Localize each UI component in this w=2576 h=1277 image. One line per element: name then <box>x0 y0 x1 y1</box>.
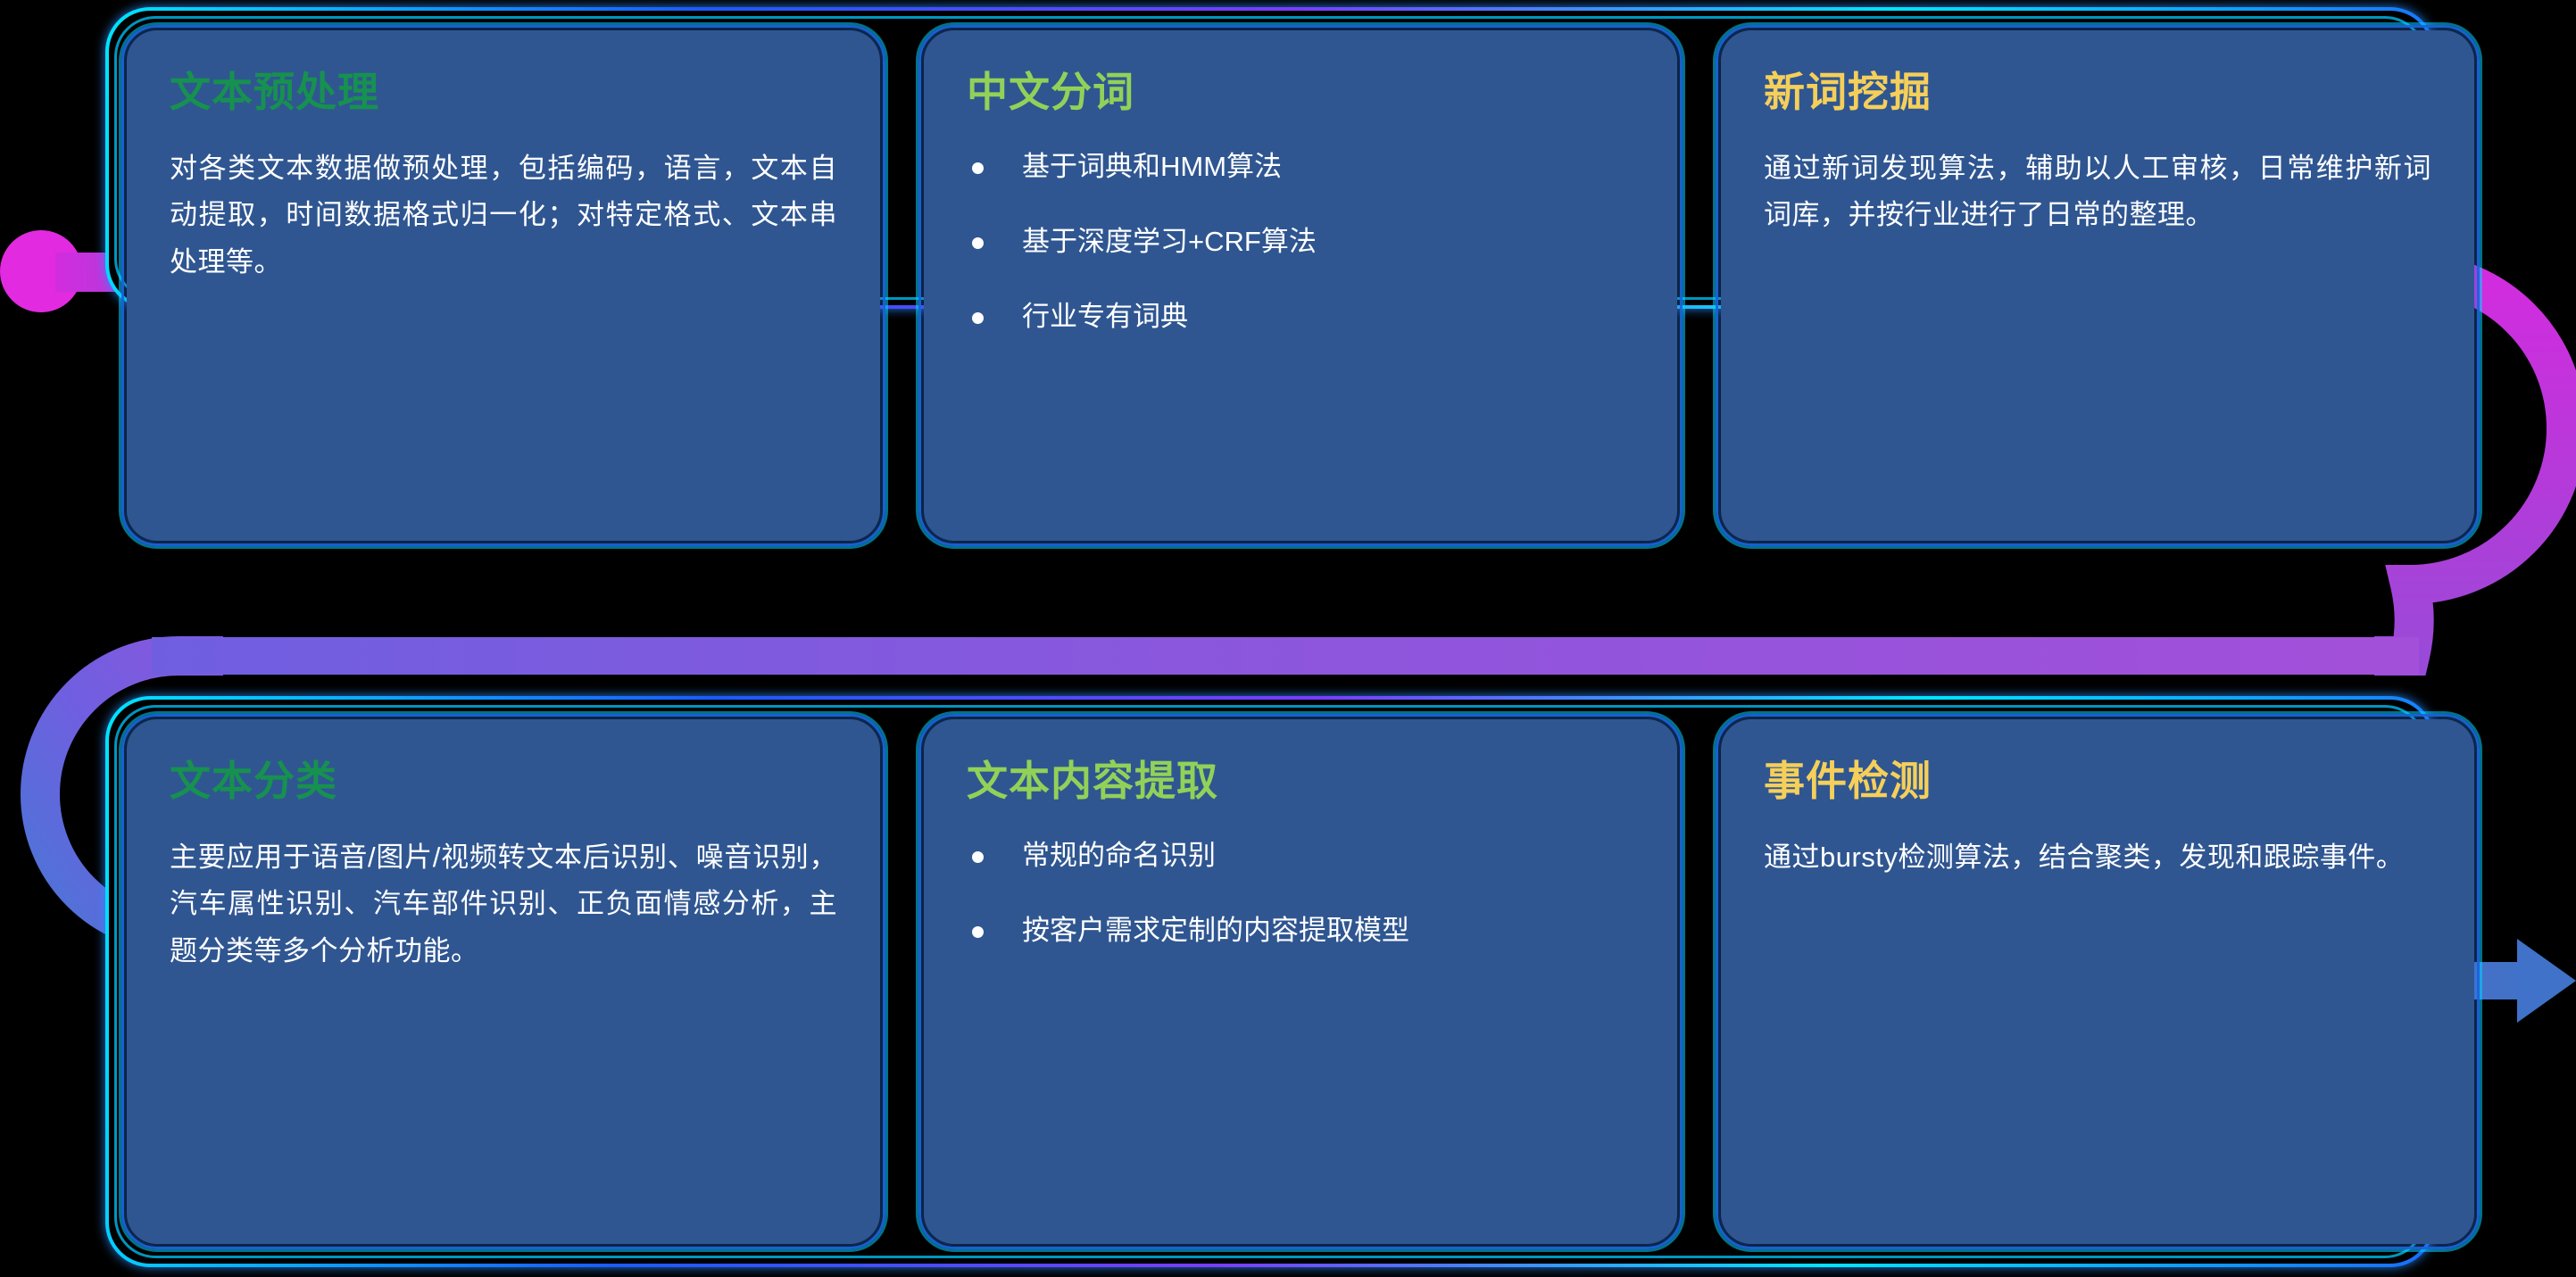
card-body: 通过新词发现算法，辅助以人工审核，日常维护新词词库，并按行业进行了日常的整理。 <box>1764 145 2431 239</box>
card-title: 文本内容提取 <box>967 759 1634 804</box>
bullet-dot-icon <box>972 312 984 324</box>
card-text-preprocessing[interactable]: 文本预处理 对各类文本数据做预处理，包括编码，语言，文本自动提取，时间数据格式归… <box>127 30 880 541</box>
card-title: 新词挖掘 <box>1764 70 2431 115</box>
card-title: 文本分类 <box>170 759 837 804</box>
bullet-dot-icon <box>972 926 984 938</box>
bullet-dot-icon <box>972 162 984 174</box>
card-content-extraction[interactable]: 文本内容提取 常规的命名识别 按客户需求定制的内容提取模型 <box>924 719 1677 1244</box>
list-item-label: 常规的命名识别 <box>1022 840 1216 871</box>
list-item-label: 基于词典和HMM算法 <box>1022 151 1282 182</box>
bullet-dot-icon <box>972 237 984 249</box>
card-new-word-mining[interactable]: 新词挖掘 通过新词发现算法，辅助以人工审核，日常维护新词词库，并按行业进行了日常… <box>1721 30 2474 541</box>
card-title: 中文分词 <box>967 70 1634 115</box>
card-chinese-segmentation[interactable]: 中文分词 基于词典和HMM算法 基于深度学习+CRF算法 行业专有词典 <box>924 30 1677 541</box>
card-text-classification[interactable]: 文本分类 主要应用于语音/图片/视频转文本后识别、噪音识别，汽车属性识别、汽车部… <box>127 719 880 1244</box>
list-item: 按客户需求定制的内容提取模型 <box>967 909 1634 952</box>
card-body: 对各类文本数据做预处理，包括编码，语言，文本自动提取，时间数据格式归一化；对特定… <box>170 145 837 286</box>
list-item: 常规的命名识别 <box>967 834 1634 877</box>
list-item: 基于深度学习+CRF算法 <box>967 220 1634 263</box>
card-bullet-list: 常规的命名识别 按客户需求定制的内容提取模型 <box>967 834 1634 952</box>
list-item: 行业专有词典 <box>967 295 1634 338</box>
card-title: 事件检测 <box>1764 759 2431 804</box>
card-event-detection[interactable]: 事件检测 通过bursty检测算法，结合聚类，发现和跟踪事件。 <box>1721 719 2474 1244</box>
card-bullet-list: 基于词典和HMM算法 基于深度学习+CRF算法 行业专有词典 <box>967 145 1634 338</box>
diagram-canvas: 文本预处理 对各类文本数据做预处理，包括编码，语言，文本自动提取，时间数据格式归… <box>0 0 2576 1277</box>
card-body: 通过bursty检测算法，结合聚类，发现和跟踪事件。 <box>1764 834 2431 882</box>
card-title: 文本预处理 <box>170 70 837 115</box>
list-item-label: 按客户需求定制的内容提取模型 <box>1022 915 1409 946</box>
card-body: 主要应用于语音/图片/视频转文本后识别、噪音识别，汽车属性识别、汽车部件识别、正… <box>170 834 837 975</box>
list-item-label: 基于深度学习+CRF算法 <box>1022 226 1317 257</box>
list-item: 基于词典和HMM算法 <box>967 145 1634 188</box>
list-item-label: 行业专有词典 <box>1022 301 1188 332</box>
card-grid: 文本预处理 对各类文本数据做预处理，包括编码，语言，文本自动提取，时间数据格式归… <box>0 0 2576 1277</box>
bullet-dot-icon <box>972 851 984 863</box>
